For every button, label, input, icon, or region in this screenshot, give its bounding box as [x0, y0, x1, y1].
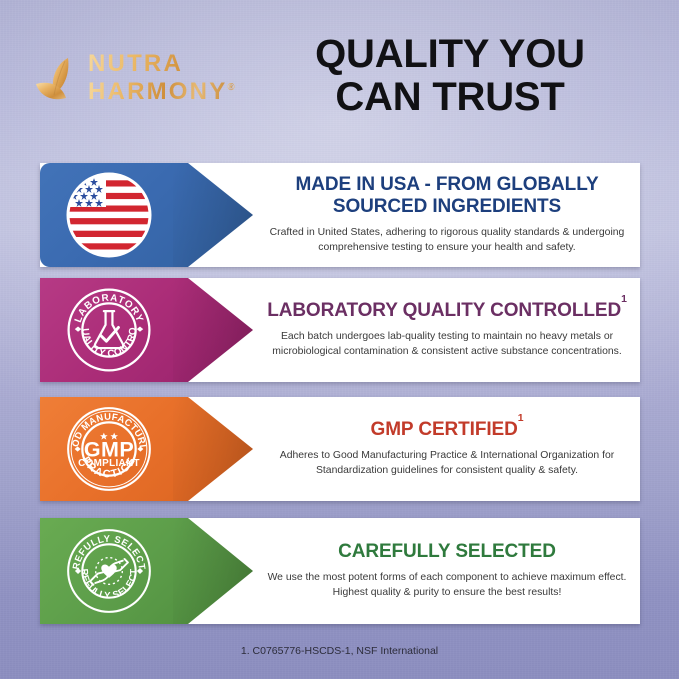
row-description: We use the most potent forms of each com… [262, 571, 632, 601]
arrow-shadow [173, 163, 253, 267]
row-text-block: GMP CERTIFIED1 Adheres to Good Manufactu… [262, 397, 632, 501]
usa-flag-icon [66, 172, 152, 258]
hands-heart-seal-icon: CAREFULLY SELECTED CAREFULLY SELECTED [66, 528, 152, 614]
arrow-shadow [173, 518, 253, 624]
row-description: Each batch undergoes lab-quality testing… [262, 330, 632, 360]
leaf-icon [32, 54, 86, 114]
row-heading: LABORATORY QUALITY CONTROLLED1 [267, 300, 627, 321]
laboratory-flask-seal-icon: LABORATORY QUALITY CONTROL [66, 287, 152, 373]
brand-logo: NUTRA HARMONY® [32, 52, 252, 122]
feature-row-gmp-certified: GOOD MANUFACTURING PRACTICE GMP COMPLIAN… [40, 397, 640, 501]
row-description: Crafted in United States, adhering to ri… [262, 226, 632, 256]
row-text-block: LABORATORY QUALITY CONTROLLED1 Each batc… [262, 278, 632, 382]
footnote-marker: 1 [621, 294, 627, 305]
feature-row-made-in-usa: MADE IN USA - FROM GLOBALLY SOURCED INGR… [40, 163, 640, 267]
row-description: Adheres to Good Manufacturing Practice &… [262, 449, 632, 479]
svg-text:COMPLIANT: COMPLIANT [78, 458, 140, 469]
gmp-compliant-seal-icon: GOOD MANUFACTURING PRACTICE GMP COMPLIAN… [66, 406, 152, 492]
feature-row-carefully-selected: CAREFULLY SELECTED CAREFULLY SELECTED [40, 518, 640, 624]
page-title: QUALITY YOU CAN TRUST [240, 33, 660, 119]
arrow-shadow [173, 278, 253, 382]
infographic-page: NUTRA HARMONY® QUALITY YOU CAN TRUST [0, 0, 679, 679]
row-heading-text: LABORATORY QUALITY CONTROLLED [267, 300, 621, 321]
row-heading: CAREFULLY SELECTED [338, 541, 556, 562]
registered-mark: ® [227, 83, 234, 93]
arrow-shadow [173, 397, 253, 501]
row-text-block: MADE IN USA - FROM GLOBALLY SOURCED INGR… [262, 163, 632, 267]
row-heading: GMP CERTIFIED1 [371, 419, 524, 440]
row-heading-text: GMP CERTIFIED [371, 419, 518, 440]
feature-row-laboratory-quality-controlled: LABORATORY QUALITY CONTROL LABORATORY QU… [40, 278, 640, 382]
row-text-block: CAREFULLY SELECTED We use the most poten… [262, 518, 632, 624]
row-heading: MADE IN USA - FROM GLOBALLY SOURCED INGR… [262, 174, 632, 217]
footnote-marker: 1 [518, 413, 524, 424]
footnote: 1. C0765776-HSCDS-1, NSF International [0, 645, 679, 657]
brand-name-line2: HARMONY [88, 80, 227, 104]
page-title-line2: CAN TRUST [240, 76, 660, 119]
page-title-line1: QUALITY YOU [315, 32, 585, 76]
header: NUTRA HARMONY® QUALITY YOU CAN TRUST [0, 0, 679, 150]
